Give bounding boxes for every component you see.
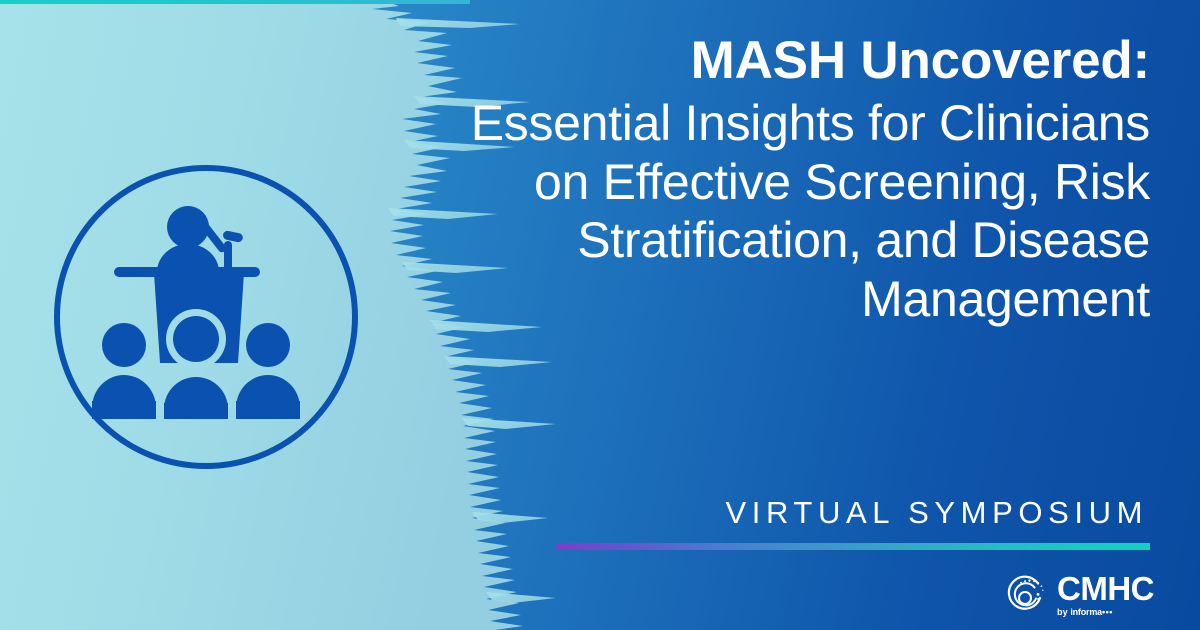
page-title: MASH Uncovered: — [410, 30, 1150, 91]
event-type-block: VIRTUAL SYMPOSIUM — [556, 497, 1150, 550]
cmhc-byline: by informa••• — [1057, 608, 1113, 617]
subtitle-line-4: Management — [410, 270, 1150, 329]
subtitle-line-1: Essential Insights for Clinicians — [410, 94, 1150, 153]
byline-dots: ••• — [1102, 607, 1113, 617]
podium-speaker-audience-icon — [52, 163, 360, 471]
byline-brand: informa — [1070, 607, 1102, 617]
event-type-label: VIRTUAL SYMPOSIUM — [556, 497, 1150, 528]
subtitle-line-2: on Effective Screening, Risk — [410, 153, 1150, 212]
promo-banner: MASH Uncovered: Essential Insights for C… — [0, 0, 1200, 630]
cmhc-swirl-mark-icon — [1005, 574, 1047, 616]
gradient-divider-rule — [556, 543, 1150, 550]
cmhc-logo-text: CMHC by informa••• — [1057, 572, 1154, 617]
page-subtitle: Essential Insights for Clinicians on Eff… — [410, 94, 1150, 328]
banner-text-column: MASH Uncovered: Essential Insights for C… — [410, 30, 1150, 328]
top-teal-accent-line — [0, 0, 470, 4]
cmhc-logo: CMHC by informa••• — [1005, 572, 1154, 617]
byline-prefix: by — [1057, 607, 1068, 617]
cmhc-wordmark: CMHC — [1057, 572, 1154, 605]
subtitle-line-3: Stratification, and Disease — [410, 211, 1150, 270]
